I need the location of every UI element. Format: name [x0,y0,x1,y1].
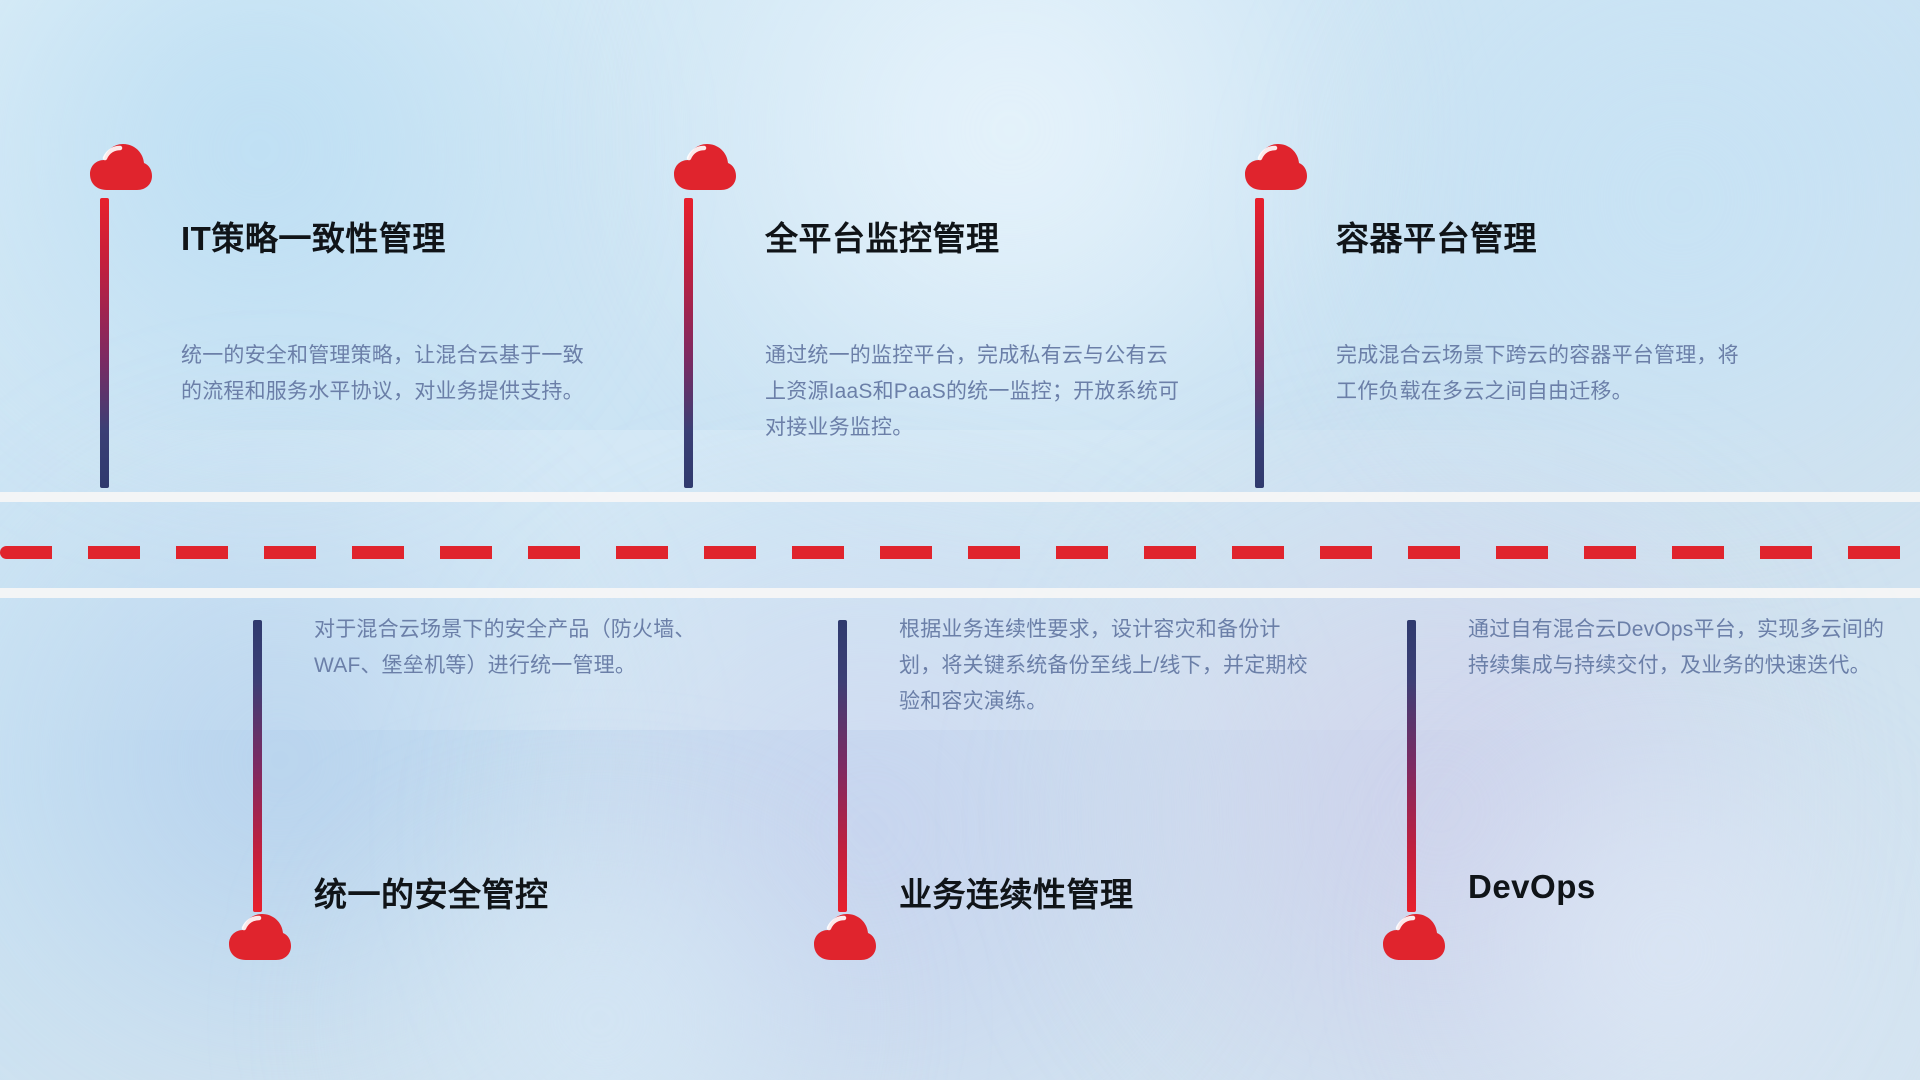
top-item-1-description: 统一的安全和管理策略，让混合云基于一致的流程和服务水平协议，对业务提供支持。 [181,338,601,410]
top-item-2-description: 通过统一的监控平台，完成私有云与公有云上资源IaaS和PaaS的统一监控；开放系… [765,338,1185,446]
connector-stem [253,620,262,912]
connector-stem [838,620,847,912]
cloud-icon [673,142,737,192]
cloud-icon [1244,142,1308,192]
cloud-icon [1382,912,1446,962]
cloud-icon [228,912,292,962]
top-item-1-title: IT策略一致性管理 [181,212,446,260]
bottom-item-1-description: 对于混合云场景下的安全产品（防火墙、WAF、堡垒机等）进行统一管理。 [314,612,734,684]
bottom-item-3-title: DevOps [1468,868,1596,906]
connector-stem [1407,620,1416,912]
bottom-item-1-title: 统一的安全管控 [314,868,549,916]
bottom-item-3-description: 通过自有混合云DevOps平台，实现多云间的持续集成与持续交付，及业务的快速迭代… [1468,612,1888,684]
top-item-3-description: 完成混合云场景下跨云的容器平台管理，将工作负载在多云之间自由迁移。 [1336,338,1756,410]
divider-band-lower [0,588,1920,598]
infographic-canvas: IT策略一致性管理 统一的安全和管理策略，让混合云基于一致的流程和服务水平协议，… [0,0,1920,1080]
cloud-icon [813,912,877,962]
divider-band-upper [0,492,1920,502]
dashed-separator [0,546,1920,559]
bottom-item-2-description: 根据业务连续性要求，设计容灾和备份计划，将关键系统备份至线上/线下，并定期校验和… [899,612,1319,720]
connector-stem [1255,198,1264,488]
top-item-2-title: 全平台监控管理 [765,212,1000,260]
connector-stem [100,198,109,488]
connector-stem [684,198,693,488]
top-item-3-title: 容器平台管理 [1336,212,1537,260]
cloud-icon [89,142,153,192]
bottom-item-2-title: 业务连续性管理 [899,868,1134,916]
